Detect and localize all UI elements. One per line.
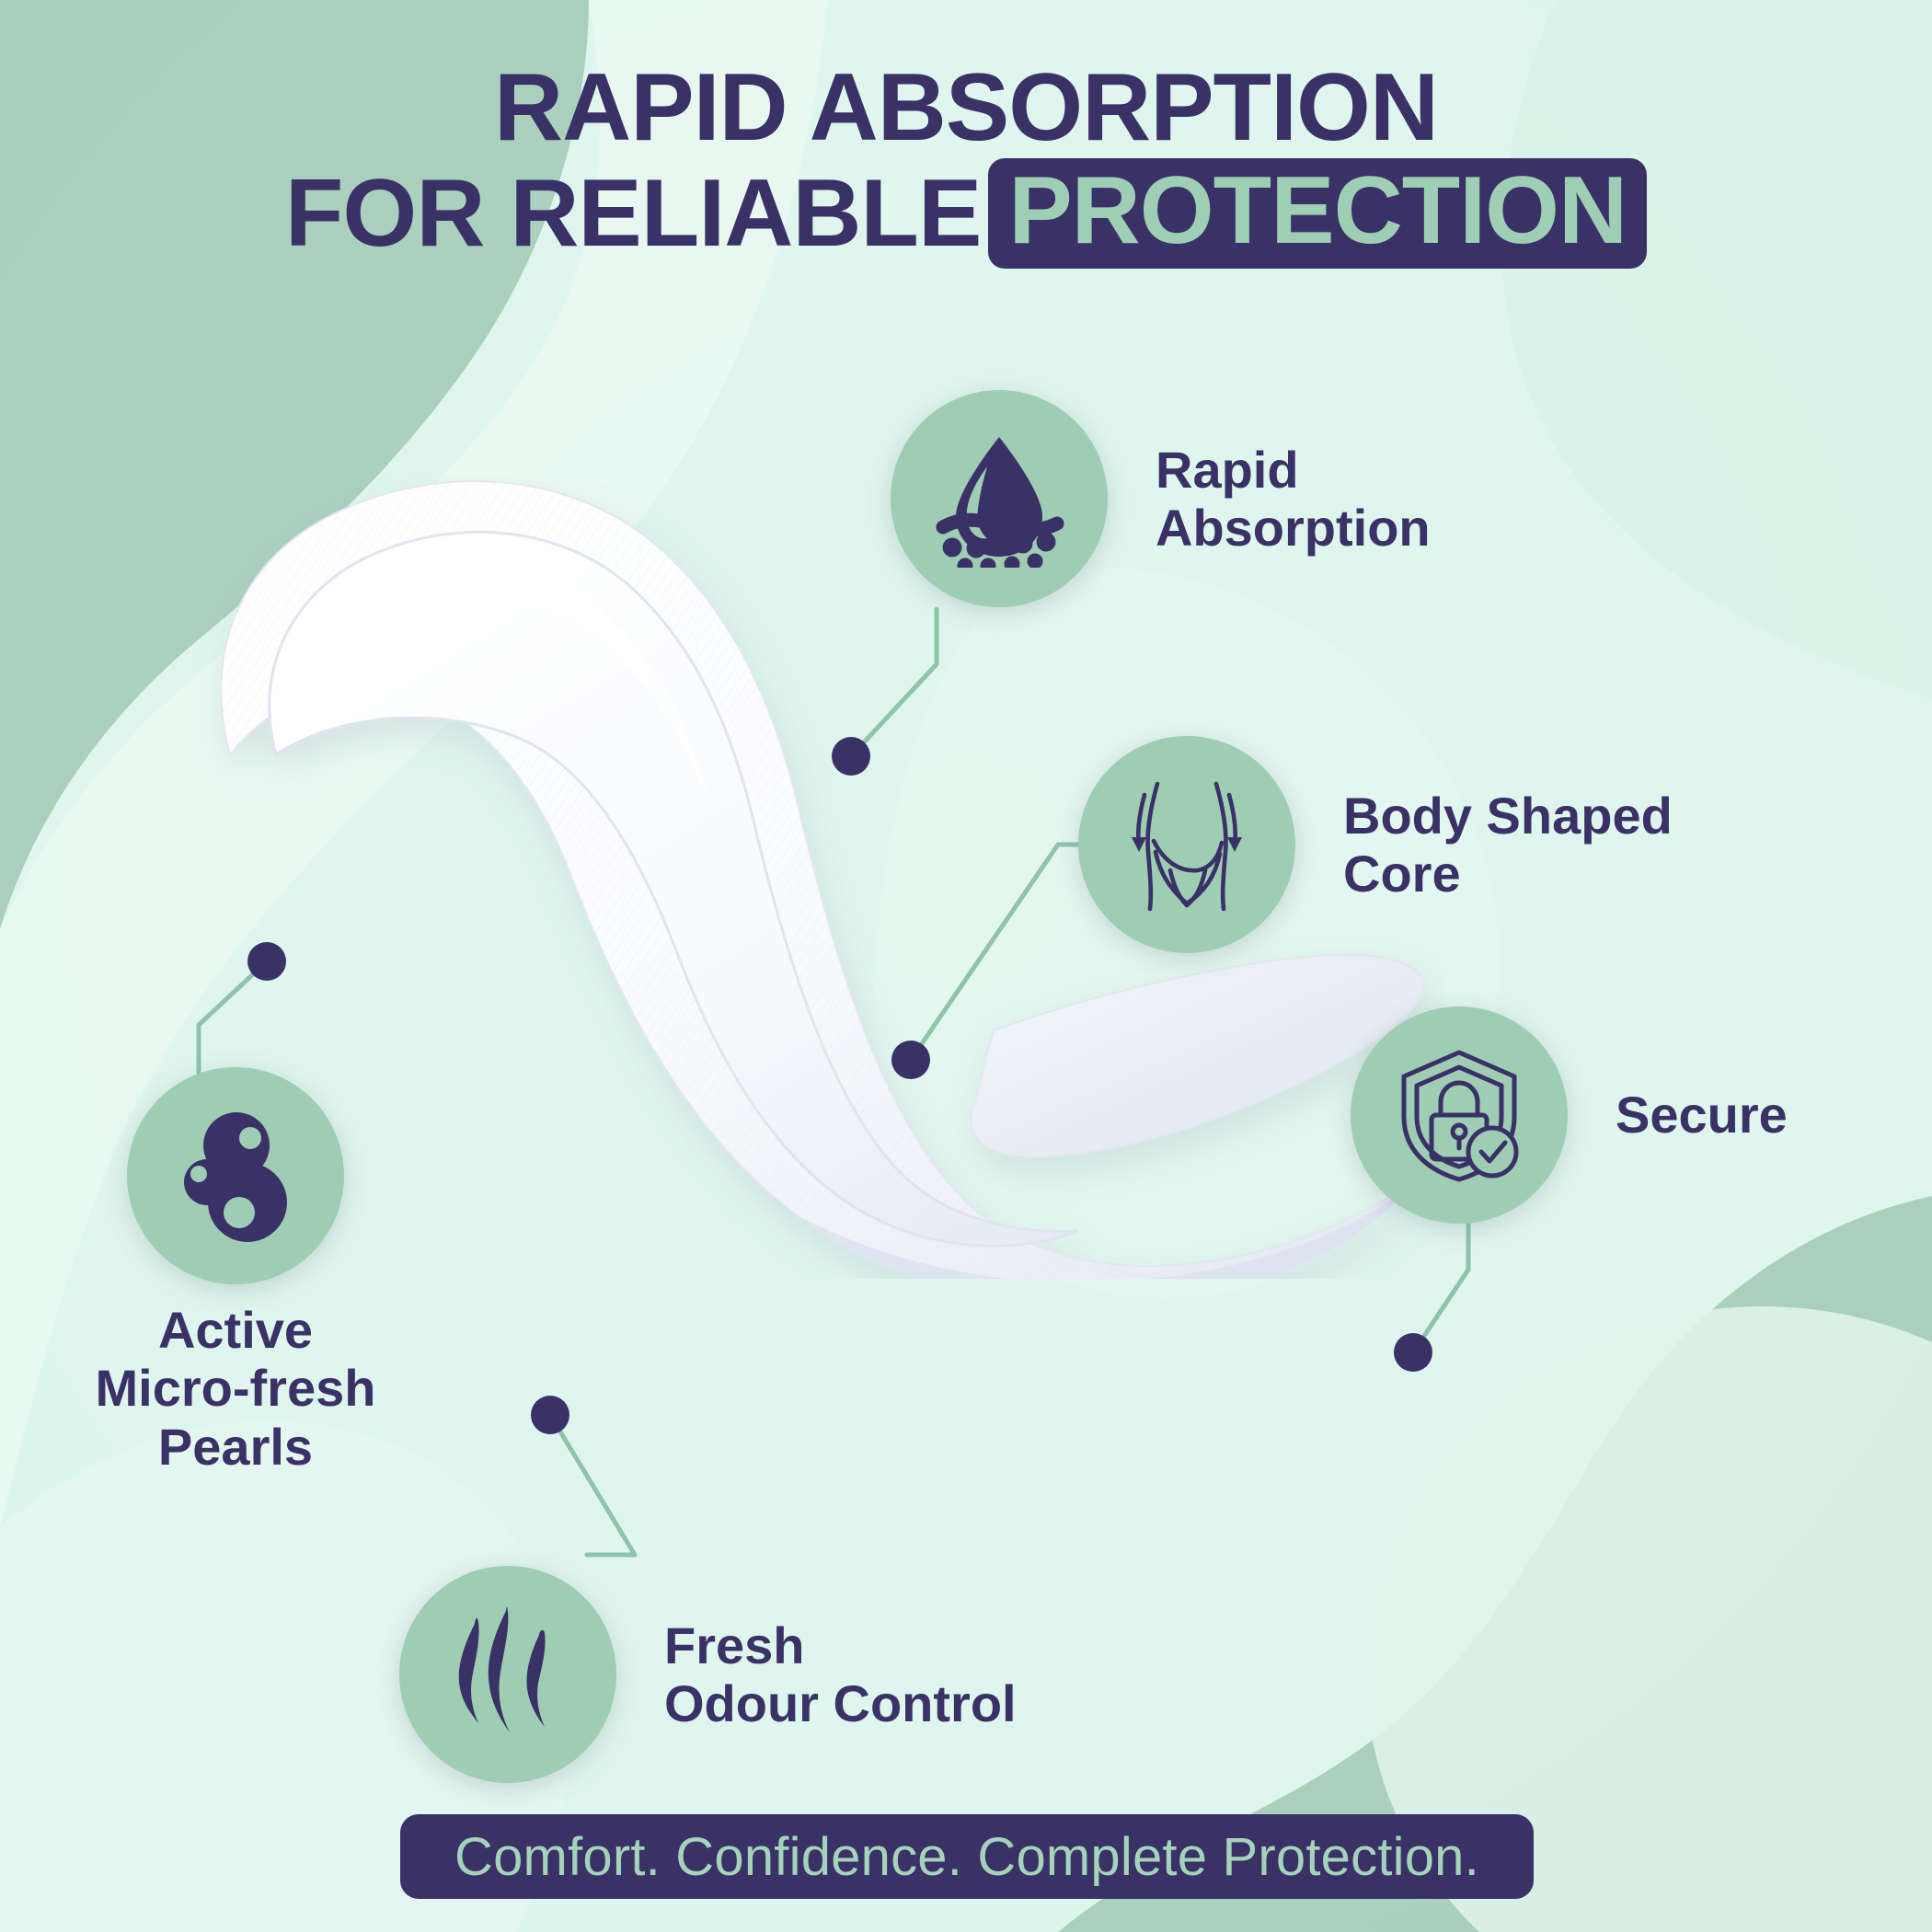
feature-label-active-micro-fresh-pearls: Active Micro-fresh Pearls xyxy=(88,1301,383,1476)
shield-lock-check-icon xyxy=(1389,1045,1529,1185)
title-highlight-protection: PROTECTION xyxy=(988,158,1647,269)
shield-lock-check-icon-circle xyxy=(1351,1006,1568,1224)
feature-label-secure: Secure xyxy=(1616,1086,1788,1144)
feature-rapid-absorption[interactable]: Rapid Absorption xyxy=(891,390,1431,607)
pearls-bubbles-icon-circle xyxy=(127,1067,344,1284)
tagline-text: Comfort. Confidence. Complete Protection… xyxy=(454,1826,1479,1888)
infographic-canvas: RAPID ABSORPTION FOR RELIABLE PROTECTION xyxy=(0,0,1932,1932)
pearls-bubbles-icon xyxy=(167,1107,305,1245)
title-line-1: RAPID ABSORPTION xyxy=(0,57,1932,158)
fresh-vapor-waves-icon-circle xyxy=(399,1566,616,1783)
body-hips-underwear-icon xyxy=(1117,775,1257,914)
feature-label-body-shaped-core: Body Shaped Core xyxy=(1343,787,1673,903)
body-hips-underwear-icon-circle xyxy=(1078,736,1295,953)
page-title: RAPID ABSORPTION FOR RELIABLE PROTECTION xyxy=(0,57,1932,269)
tagline-banner: Comfort. Confidence. Complete Protection… xyxy=(400,1814,1534,1899)
feature-body-shaped-core[interactable]: Body Shaped Core xyxy=(1078,736,1673,953)
water-droplet-absorption-icon xyxy=(930,430,1068,568)
feature-active-micro-fresh-pearls[interactable]: Active Micro-fresh Pearls xyxy=(88,1067,383,1476)
feature-label-rapid-absorption: Rapid Absorption xyxy=(1156,441,1431,558)
feature-secure[interactable]: Secure xyxy=(1351,1006,1788,1224)
pad-inner-core xyxy=(270,532,1078,1246)
water-droplet-absorption-icon-circle xyxy=(891,390,1108,607)
title-line-2: FOR RELIABLE PROTECTION xyxy=(0,158,1932,269)
fresh-vapor-waves-icon xyxy=(443,1605,572,1743)
title-line-2-prefix: FOR RELIABLE xyxy=(285,163,981,264)
feature-label-fresh-odour-control: Fresh Odour Control xyxy=(664,1616,1017,1733)
feature-fresh-odour-control[interactable]: Fresh Odour Control xyxy=(399,1566,1017,1783)
